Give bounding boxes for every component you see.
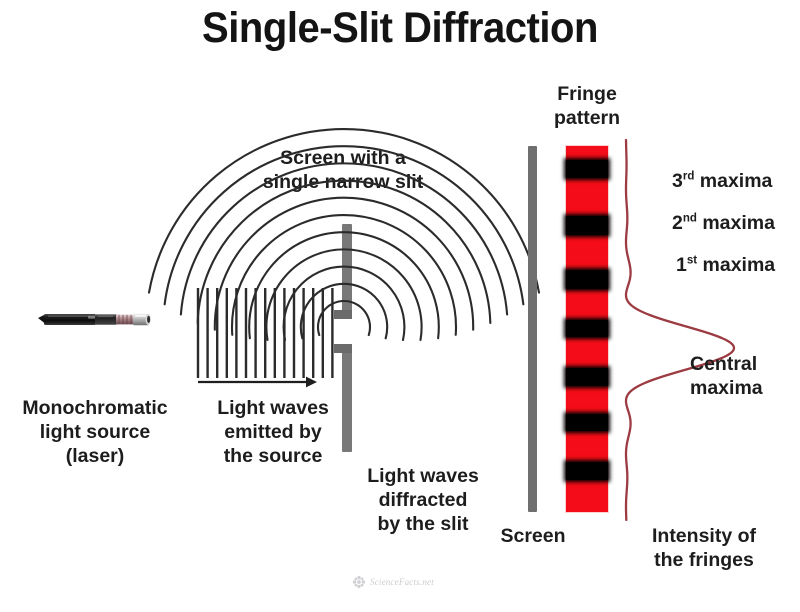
maxima-word-1: maxima	[697, 254, 775, 276]
ordinal-3: 3	[672, 170, 683, 192]
watermark-text: ScienceFacts.net	[370, 577, 434, 587]
label-2nd-maxima: 2nd maxima	[672, 212, 775, 235]
fringe-pattern-strip	[566, 146, 608, 512]
diagram-canvas: Single-Slit Diffraction	[0, 0, 800, 612]
diffracted-wavefronts	[344, 122, 534, 492]
fringe-dark-band	[566, 414, 608, 431]
fringe-dark-band	[566, 216, 608, 235]
intensity-profile-path	[626, 140, 734, 520]
watermark: ScienceFacts.net	[352, 572, 462, 592]
ordinal-suffix-rd: rd	[683, 171, 695, 183]
label-fringe-pattern: Fringe pattern	[528, 82, 646, 130]
screen-bar	[528, 146, 537, 512]
label-1st-maxima: 1st maxima	[676, 254, 775, 277]
label-screen: Screen	[488, 524, 578, 548]
label-monochromatic-light-source: Monochromatic light source (laser)	[0, 396, 190, 468]
label-central-maxima: Central maxima	[690, 352, 800, 400]
maxima-word-2: maxima	[697, 212, 775, 234]
fringe-dark-band	[566, 160, 608, 178]
label-light-waves-emitted: Light waves emitted by the source	[188, 396, 358, 468]
page-title: Single-Slit Diffraction	[28, 4, 772, 53]
intensity-curve	[620, 140, 750, 520]
ordinal-suffix-nd: nd	[683, 213, 697, 225]
fringe-dark-band	[566, 368, 608, 386]
diffracted-arc	[149, 129, 539, 293]
label-3rd-maxima: 3rd maxima	[672, 170, 772, 193]
ordinal-2: 2	[672, 212, 683, 234]
ordinal-suffix-st: st	[687, 255, 697, 267]
fringe-dark-band	[566, 320, 608, 337]
maxima-word-3: maxima	[694, 170, 772, 192]
diffracted-arc	[165, 146, 524, 304]
watermark-flower-icon	[352, 575, 366, 589]
ordinal-1: 1	[676, 254, 687, 276]
label-light-waves-diffracted: Light waves diffracted by the slit	[348, 464, 498, 536]
laser-pointer-illustration	[36, 306, 154, 332]
fringe-dark-band	[566, 462, 608, 480]
label-intensity-of-fringes: Intensity of the fringes	[614, 524, 794, 572]
fringe-dark-band	[566, 270, 608, 289]
propagation-arrow	[198, 374, 318, 390]
